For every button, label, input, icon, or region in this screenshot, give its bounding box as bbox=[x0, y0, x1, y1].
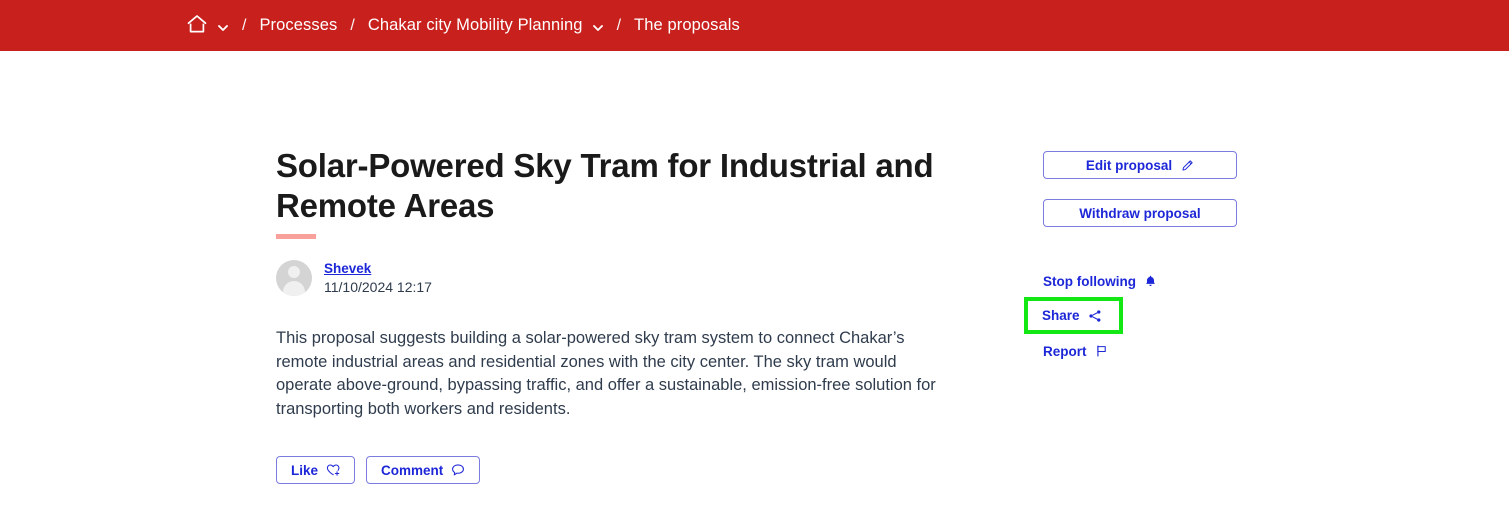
stop-following-label: Stop following bbox=[1043, 274, 1136, 289]
bell-icon bbox=[1144, 274, 1157, 288]
speech-bubble-icon bbox=[451, 463, 465, 477]
share-nodes-icon bbox=[1088, 309, 1102, 323]
proposal-action-row: Like Comment bbox=[276, 456, 946, 484]
page-title: Solar-Powered Sky Tram for Industrial an… bbox=[276, 146, 946, 226]
home-chevron-down-icon[interactable] bbox=[217, 22, 229, 34]
share-link[interactable]: Share bbox=[1042, 308, 1102, 323]
report-row: Report bbox=[1043, 334, 1243, 368]
stop-following-link[interactable]: Stop following bbox=[1043, 274, 1157, 289]
breadcrumb-home-link[interactable] bbox=[186, 13, 208, 38]
breadcrumb-item-the-proposals[interactable]: The proposals bbox=[634, 16, 740, 35]
proposal-main-column: Solar-Powered Sky Tram for Industrial an… bbox=[276, 146, 946, 484]
share-row-highlight: Share bbox=[1024, 297, 1123, 334]
top-navigation-bar: / Processes / Chakar city Mobility Plann… bbox=[0, 0, 1509, 51]
report-label: Report bbox=[1043, 344, 1087, 359]
proposal-side-column: Edit proposal Withdraw proposal Stop fol… bbox=[1043, 151, 1243, 368]
proposal-body-text: This proposal suggests building a solar-… bbox=[276, 327, 936, 421]
like-button[interactable]: Like bbox=[276, 456, 355, 484]
pencil-icon bbox=[1181, 159, 1194, 172]
author-meta: Shevek 11/10/2024 12:17 bbox=[324, 260, 432, 296]
heart-plus-icon bbox=[326, 463, 340, 477]
withdraw-proposal-button[interactable]: Withdraw proposal bbox=[1043, 199, 1237, 227]
edit-proposal-label: Edit proposal bbox=[1086, 158, 1172, 173]
breadcrumb-separator: / bbox=[350, 17, 354, 35]
breadcrumb: / Processes / Chakar city Mobility Plann… bbox=[186, 0, 740, 51]
breadcrumb-separator: / bbox=[242, 17, 246, 35]
title-accent-rule bbox=[276, 234, 316, 239]
breadcrumb-item-processes[interactable]: Processes bbox=[259, 16, 337, 35]
comment-button[interactable]: Comment bbox=[366, 456, 480, 484]
withdraw-proposal-label: Withdraw proposal bbox=[1079, 206, 1200, 221]
breadcrumb-item-process[interactable]: Chakar city Mobility Planning bbox=[368, 16, 583, 35]
comment-button-label: Comment bbox=[381, 463, 443, 478]
report-link[interactable]: Report bbox=[1043, 344, 1108, 359]
avatar bbox=[276, 260, 312, 296]
page-content: Solar-Powered Sky Tram for Industrial an… bbox=[0, 51, 1509, 527]
home-icon bbox=[186, 14, 208, 34]
author-row: Shevek 11/10/2024 12:17 bbox=[276, 260, 946, 296]
flag-icon bbox=[1095, 344, 1108, 358]
edit-proposal-button[interactable]: Edit proposal bbox=[1043, 151, 1237, 179]
author-name-link[interactable]: Shevek bbox=[324, 260, 371, 277]
proposal-timestamp: 11/10/2024 12:17 bbox=[324, 279, 432, 296]
process-chevron-down-icon[interactable] bbox=[592, 22, 604, 34]
side-links-list: Stop following Share bbox=[1043, 264, 1243, 368]
share-label: Share bbox=[1042, 308, 1080, 323]
stop-following-row: Stop following bbox=[1043, 264, 1243, 298]
breadcrumb-separator: / bbox=[617, 17, 621, 35]
like-button-label: Like bbox=[291, 463, 318, 478]
